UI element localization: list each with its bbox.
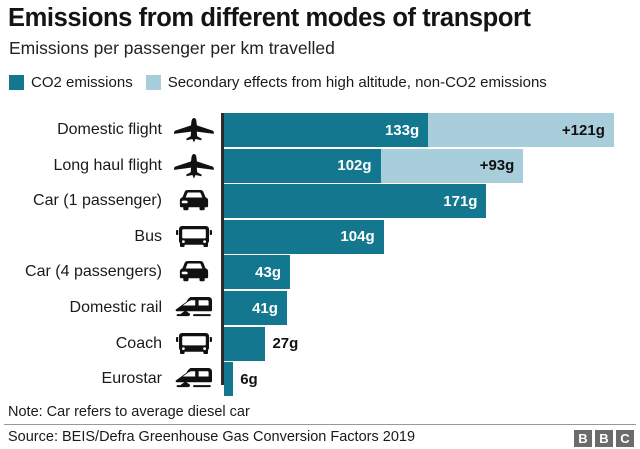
- legend-swatch-icon: [9, 75, 24, 90]
- bar-segment-secondary[interactable]: +93g: [381, 149, 524, 183]
- page-title: Emissions from different modes of transp…: [8, 4, 531, 33]
- bar-stack[interactable]: 102g+93g: [224, 149, 523, 183]
- chart-source: Source: BEIS/Defra Greenhouse Gas Conver…: [8, 429, 415, 445]
- bar-stack[interactable]: 104g: [224, 220, 384, 254]
- bar-segment-co2[interactable]: 41g: [224, 291, 287, 325]
- bar-category-label: Eurostar: [102, 362, 162, 396]
- bar-stack[interactable]: 133g+121g: [224, 113, 614, 147]
- bar-segment-secondary[interactable]: +121g: [428, 113, 614, 147]
- bar-chart-plot: Domestic flight133g+121gLong haul flight…: [0, 110, 640, 392]
- bar-row: Domestic rail41g: [0, 291, 640, 325]
- bus-icon: [170, 220, 218, 254]
- bar-row: Coach27g: [0, 327, 640, 361]
- bar-row: Bus104g: [0, 220, 640, 254]
- bar-row: Car (1 passenger)171g: [0, 184, 640, 218]
- bar-category-label: Domestic flight: [57, 113, 162, 147]
- bar-value-label: 102g: [337, 157, 371, 174]
- plane-icon: [170, 113, 218, 147]
- bar-row: Car (4 passengers)43g: [0, 255, 640, 289]
- legend-label: Secondary effects from high altitude, no…: [168, 74, 547, 91]
- bbc-logo-letter: B: [574, 430, 592, 447]
- legend-item-co2: CO2 emissions: [9, 74, 133, 91]
- bbc-logo-letter: B: [595, 430, 613, 447]
- chart-figure: Emissions from different modes of transp…: [0, 0, 640, 449]
- bar-value-label: 171g: [443, 193, 477, 210]
- bar-category-label: Bus: [134, 220, 162, 254]
- bar-category-label: Coach: [116, 327, 162, 361]
- bar-stack[interactable]: 43g: [224, 255, 290, 289]
- bar-segment-co2[interactable]: 43g: [224, 255, 290, 289]
- bar-stack[interactable]: 171g: [224, 184, 486, 218]
- bar-value-label: 133g: [385, 122, 419, 139]
- bar-value-label: 41g: [252, 300, 278, 317]
- plane-icon: [170, 149, 218, 183]
- bar-segment-co2[interactable]: 104g: [224, 220, 384, 254]
- bbc-logo: B B C: [574, 430, 634, 447]
- bar-row: Eurostar6g: [0, 362, 640, 396]
- train-icon: [170, 291, 218, 325]
- bar-value-label: 104g: [340, 228, 374, 245]
- bar-value-label: 6g: [233, 362, 258, 396]
- bar-segment-co2[interactable]: 133g: [224, 113, 428, 147]
- bar-value-label: +93g: [480, 157, 515, 174]
- bar-stack[interactable]: [224, 327, 265, 361]
- chart-legend: CO2 emissions Secondary effects from hig…: [9, 74, 547, 91]
- chart-note: Note: Car refers to average diesel car: [8, 404, 250, 420]
- bar-stack[interactable]: 41g: [224, 291, 287, 325]
- bar-segment-co2[interactable]: 102g: [224, 149, 381, 183]
- bar-segment-co2[interactable]: [224, 327, 265, 361]
- train-icon: [170, 362, 218, 396]
- footer-divider: [4, 424, 636, 425]
- bbc-logo-letter: C: [616, 430, 634, 447]
- bar-row: Domestic flight133g+121g: [0, 113, 640, 147]
- bar-category-label: Car (4 passengers): [25, 255, 162, 289]
- bar-stack[interactable]: [224, 362, 233, 396]
- chart-subtitle: Emissions per passenger per km travelled: [9, 38, 335, 59]
- bar-value-label: 43g: [255, 264, 281, 281]
- bar-segment-co2[interactable]: 171g: [224, 184, 486, 218]
- bar-category-label: Long haul flight: [53, 149, 162, 183]
- bar-category-label: Car (1 passenger): [33, 184, 162, 218]
- legend-item-secondary: Secondary effects from high altitude, no…: [146, 74, 547, 91]
- legend-label: CO2 emissions: [31, 74, 133, 91]
- bar-value-label: +121g: [562, 122, 605, 139]
- bar-segment-co2[interactable]: [224, 362, 233, 396]
- car-icon: [170, 255, 218, 289]
- car-icon: [170, 184, 218, 218]
- bar-category-label: Domestic rail: [70, 291, 162, 325]
- legend-swatch-icon: [146, 75, 161, 90]
- bar-value-label: 27g: [265, 327, 298, 361]
- bar-row: Long haul flight102g+93g: [0, 149, 640, 183]
- bus-icon: [170, 327, 218, 361]
